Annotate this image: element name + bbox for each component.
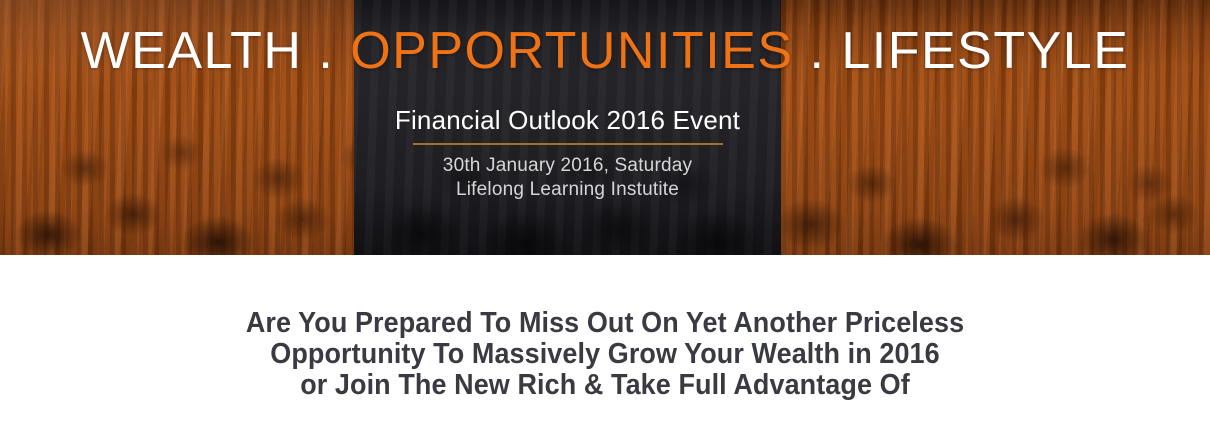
event-divider — [413, 143, 723, 145]
body-section: Are You Prepared To Miss Out On Yet Anot… — [0, 255, 1210, 423]
headline-separator-2: . — [794, 22, 842, 80]
body-headline-line-2: Opportunity To Massively Grow Your Wealt… — [42, 339, 1167, 370]
headline-separator-1: . — [302, 22, 350, 80]
headline-word-wealth: WEALTH — [81, 22, 303, 80]
headline-word-lifestyle: LIFESTYLE — [841, 22, 1129, 80]
event-title: Financial Outlook 2016 Event — [354, 104, 781, 136]
body-headline-line-1: Are You Prepared To Miss Out On Yet Anot… — [42, 308, 1167, 339]
hero-banner: WEALTH . OPPORTUNITIES . LIFESTYLE Finan… — [0, 0, 1210, 255]
headline-word-opportunities: OPPORTUNITIES — [350, 22, 793, 80]
landing-page: WEALTH . OPPORTUNITIES . LIFESTYLE Finan… — [0, 0, 1210, 423]
event-details-block: Financial Outlook 2016 Event 30th Januar… — [354, 104, 781, 202]
body-headline: Are You Prepared To Miss Out On Yet Anot… — [42, 308, 1167, 401]
hero-headline: WEALTH . OPPORTUNITIES . LIFESTYLE — [0, 20, 1210, 82]
event-date: 30th January 2016, Saturday — [354, 154, 781, 178]
body-headline-line-3: or Join The New Rich & Take Full Advanta… — [42, 370, 1167, 401]
event-venue: Lifelong Learning Instutite — [354, 178, 781, 202]
